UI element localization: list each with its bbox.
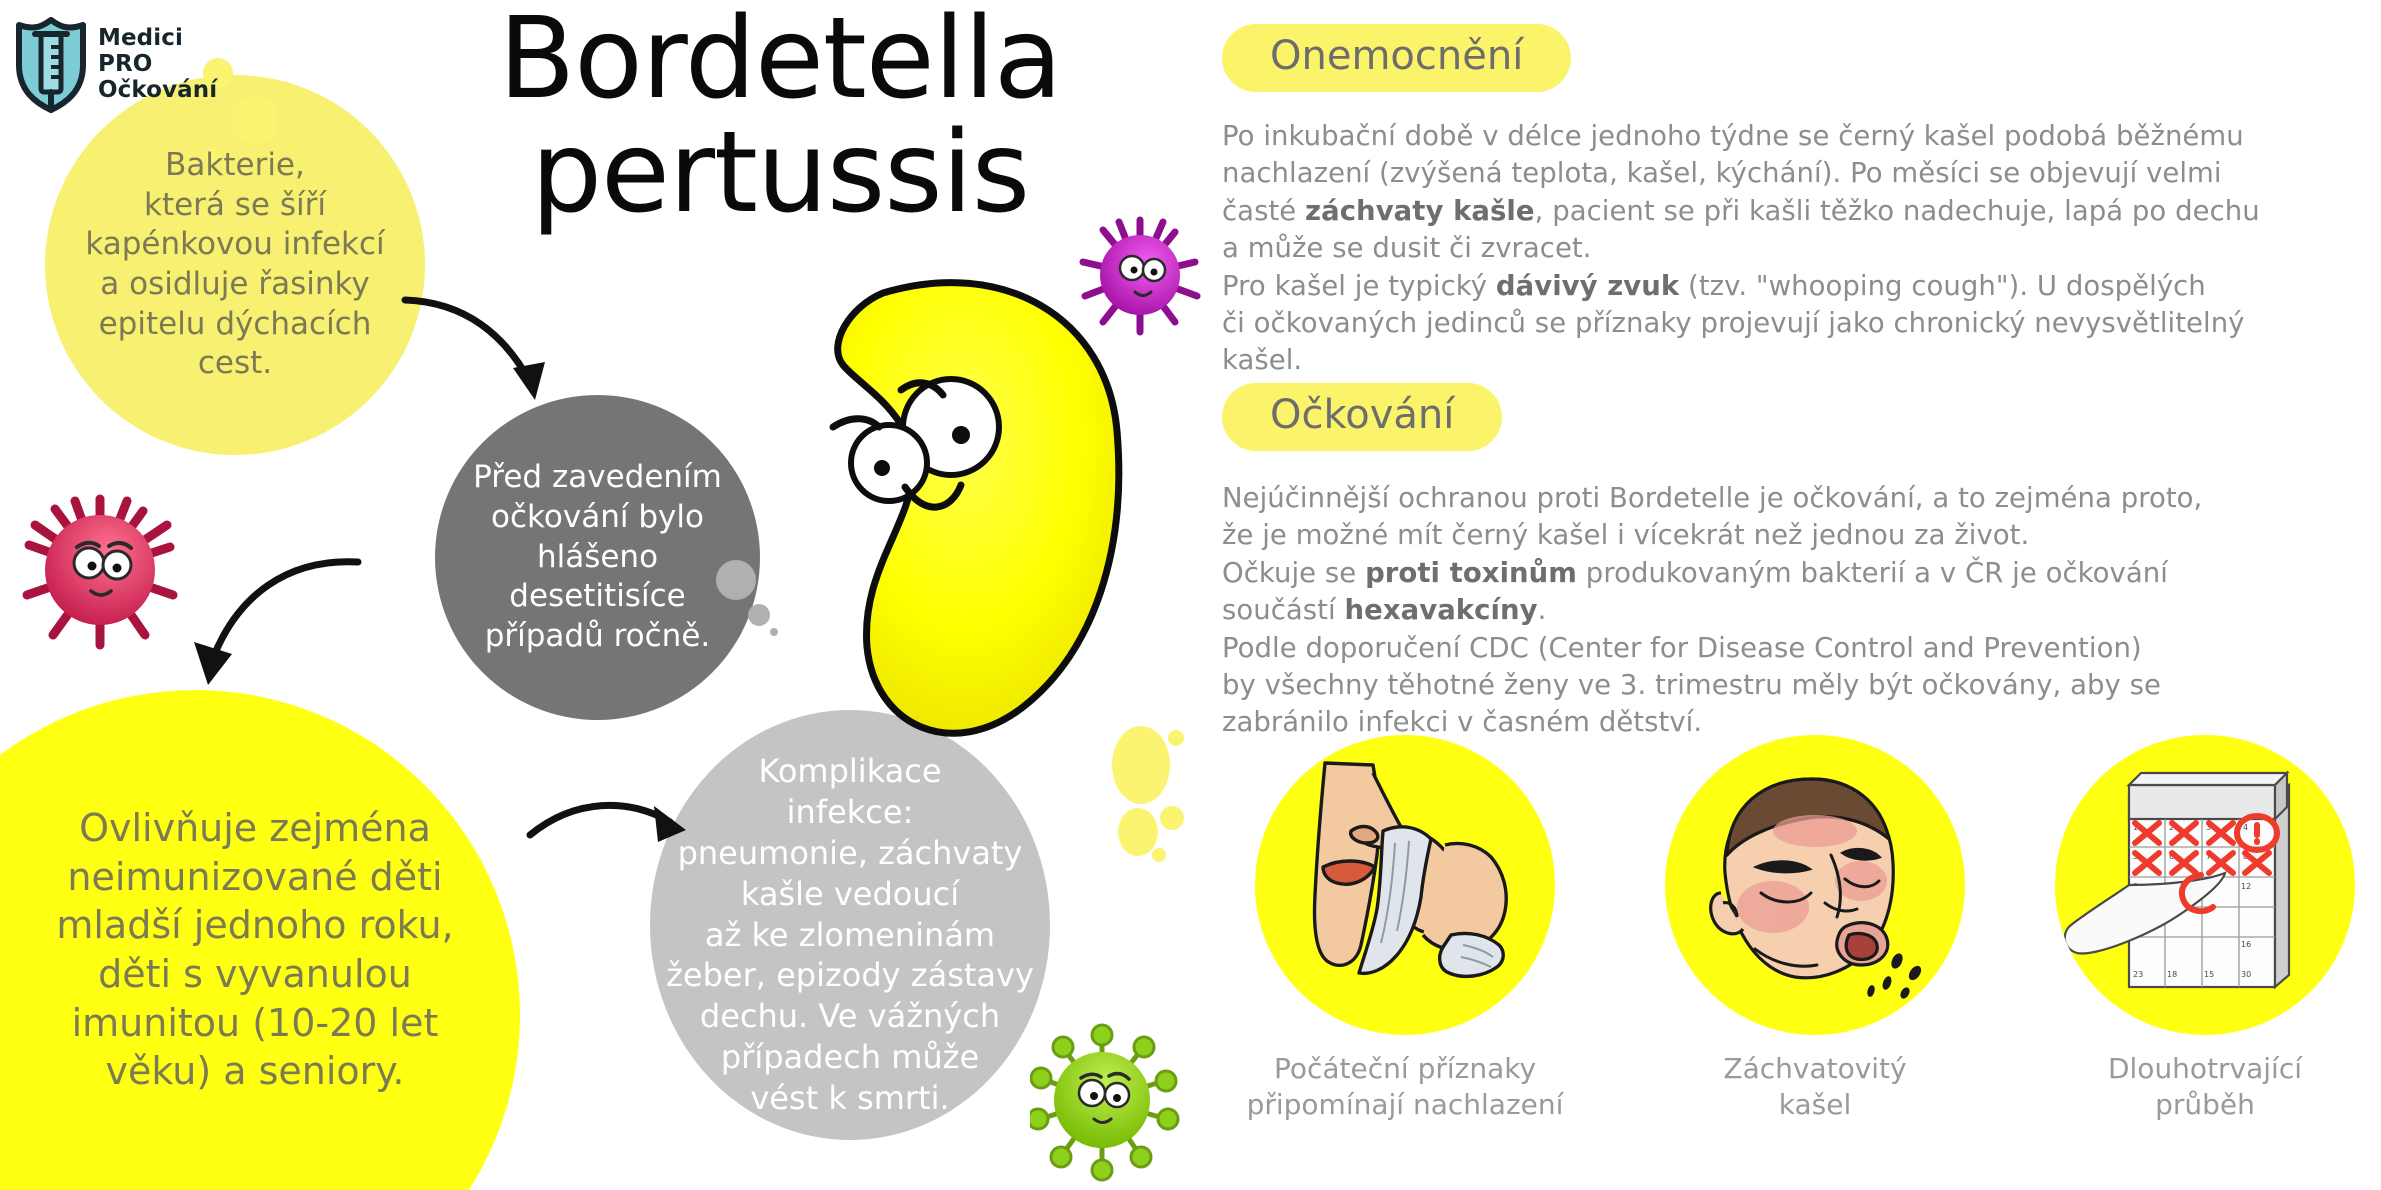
svg-text:18: 18: [2167, 970, 2177, 979]
photo-card-1: Počáteční příznaky připomínají nachlazen…: [1240, 735, 1570, 1124]
title-line-2: pertussis: [420, 116, 1140, 230]
body-run: .: [1538, 594, 1547, 626]
brand-logo: Medici PRO Očkování: [14, 10, 244, 120]
body-paragraph: Po inkubační době v délce jednoho týdne …: [1222, 118, 2362, 268]
brand-line-3: Očkování: [98, 78, 217, 104]
arrow-yellow-to-gray-icon: [395, 290, 595, 430]
section-body-ockovani: Nejúčinnější ochranou proti Bordetelle j…: [1222, 480, 2362, 742]
calendar-crossed-days-icon: 1234 5678 9101112 16 23181530: [2055, 735, 2355, 1035]
section-body-onemocneni: Po inkubační době v délce jednoho týdne …: [1222, 118, 2362, 380]
emphasis-text: dávivý zvuk: [1496, 270, 1679, 302]
title-line-1: Bordetella: [498, 0, 1061, 124]
brand-name: Medici PRO Očkování: [98, 26, 217, 103]
svg-text:12: 12: [2241, 882, 2251, 891]
coughing-child-face-icon: [1665, 735, 1965, 1035]
photo-caption-2: Záchvatovitý kašel: [1650, 1051, 1980, 1124]
page-title: Bordetella pertussis: [420, 2, 1140, 230]
deco-bubble: [368, 1133, 382, 1147]
nose-blowing-tissue-icon: [1255, 735, 1555, 1035]
arrow-yellow-bottom-to-gray-bottom-icon: [520, 780, 710, 890]
emphasis-text: proti toxinům: [1365, 557, 1577, 589]
photo-card-2: Záchvatovitý kašel: [1650, 735, 1980, 1124]
emphasis-text: hexavakcíny: [1345, 594, 1538, 626]
body-paragraph: Nejúčinnější ochranou proti Bordetelle j…: [1222, 480, 2362, 630]
flow-text-yellow-top: Bakterie, která se šíří kapénkovou infek…: [45, 140, 425, 390]
svg-text:23: 23: [2133, 970, 2143, 979]
svg-text:15: 15: [2204, 970, 2214, 979]
section-heading-onemocneni: Onemocnění: [1222, 24, 1571, 92]
body-run: Podle doporučení CDC (Center for Disease…: [1222, 632, 2161, 739]
red-virus-icon: [15, 485, 185, 655]
pill-label-onemocneni: Onemocnění: [1222, 24, 1571, 92]
pill-label-ockovani: Očkování: [1222, 383, 1502, 451]
photo-caption-1: Počáteční příznaky připomínají nachlazen…: [1240, 1051, 1570, 1124]
flow-text-gray-bottom: Komplikace infekce: pneumonie, záchvaty …: [650, 755, 1050, 1115]
emphasis-text: záchvaty kašle: [1305, 195, 1535, 227]
arrow-gray-to-yellow-icon: [178, 550, 368, 710]
body-paragraph: Pro kašel je typický dávivý zvuk (tzv. "…: [1222, 268, 2362, 380]
svg-text:16: 16: [2241, 940, 2251, 949]
deco-bubble: [1118, 808, 1158, 856]
flow-text-yellow-bottom: Ovlivňuje zejména neimunizované děti mla…: [0, 800, 545, 1100]
magenta-virus-icon: [1075, 210, 1205, 340]
photo-caption-3: Dlouhotrvající průběh: [2040, 1051, 2370, 1124]
body-paragraph: Podle doporučení CDC (Center for Disease…: [1222, 630, 2362, 742]
photo-card-3: 1234 5678 9101112 16 23181530: [2040, 735, 2370, 1124]
svg-text:4: 4: [2243, 823, 2248, 832]
syringe-shield-icon: [14, 17, 88, 113]
body-run: Pro kašel je typický: [1222, 270, 1496, 302]
section-heading-ockovani: Očkování: [1222, 383, 1502, 451]
brand-line-1: Medici: [98, 26, 217, 52]
brand-line-2: PRO: [98, 52, 217, 78]
deco-bubble: [1152, 848, 1166, 862]
green-virus-icon: [1030, 1015, 1180, 1190]
deco-bubble: [386, 1124, 436, 1174]
infographic-poster: Medici PRO Očkování Bordetella pertussis…: [0, 0, 2381, 1190]
svg-text:30: 30: [2241, 970, 2251, 979]
deco-bubble: [1160, 806, 1184, 830]
flow-text-gray-top: Před zavedením očkování bylo hlášeno des…: [435, 430, 760, 685]
